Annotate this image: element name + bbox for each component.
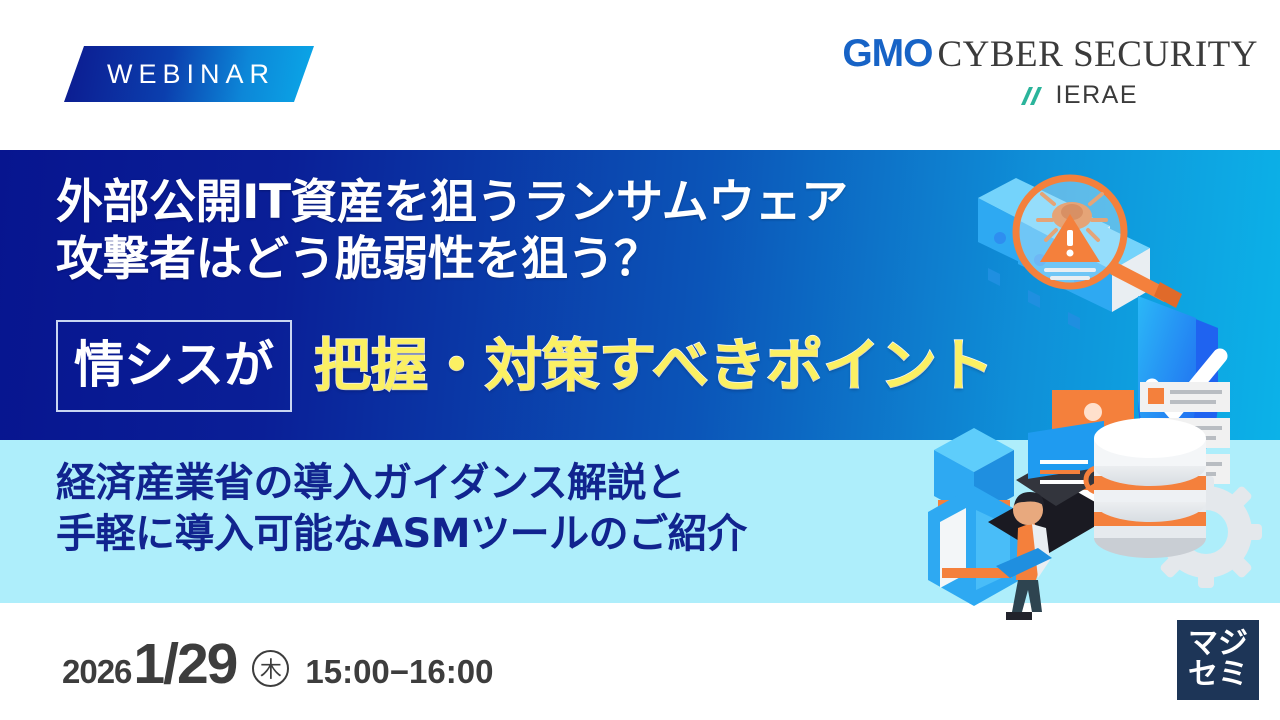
logo-secondary-row: IERAE [842,81,1258,110]
majisemi-logo: マジ セミ [1177,620,1259,700]
event-date: 1/29 [133,631,236,697]
banner-header: WEBINAR GMO CYBER SECURITY IERAE [0,0,1280,150]
majisemi-logo-line-1: マジ [1188,629,1248,660]
title-line-1: 外部公開IT資産を狙うランサムウェア [56,174,956,231]
title-block: 外部公開IT資産を狙うランサムウェア 攻撃者はどう脆弱性を狙う？ [56,174,956,289]
event-time: 15:00−16:00 [305,653,493,691]
event-day-of-week: 木 [252,650,289,687]
subtitle-line-1: 経済産業省の導入ガイダンス解説と [56,458,956,509]
audience-chip-label: 情シスが [74,340,274,390]
headline-row: 情シスが 把握・対策すべきポイント [56,320,994,412]
logo-primary-row: GMO CYBER SECURITY [842,34,1258,73]
ierae-wordmark: IERAE [1055,81,1138,110]
gmo-cyber-security-logo: GMO CYBER SECURITY IERAE [842,34,1258,110]
subtitle-block: 経済産業省の導入ガイダンス解説と 手軽に導入可能なASMツールのご紹介 [56,458,956,560]
cyber-security-wordmark: CYBER SECURITY [937,36,1258,73]
majisemi-logo-line-2: セミ [1188,660,1248,691]
gmo-wordmark: GMO [842,34,932,73]
audience-chip: 情シスが [56,320,292,412]
event-year: 2026 [62,653,131,691]
webinar-badge: WEBINAR [64,46,314,102]
title-line-2: 攻撃者はどう脆弱性を狙う？ [56,231,956,288]
highlight-text: 把握・対策すべきポイント [314,338,994,395]
banner-footer: 2026 1/29 木 15:00−16:00 [0,603,1280,720]
subtitle-band: 経済産業省の導入ガイダンス解説と 手軽に導入可能なASMツールのご紹介 [0,440,1280,603]
subtitle-line-2: 手軽に導入可能なASMツールのご紹介 [56,509,956,560]
webinar-badge-label: WEBINAR [103,59,275,90]
event-datetime: 2026 1/29 木 15:00−16:00 [62,631,493,697]
webinar-banner: WEBINAR GMO CYBER SECURITY IERAE 外部公開IT資… [0,0,1280,720]
main-title-band: 外部公開IT資産を狙うランサムウェア 攻撃者はどう脆弱性を狙う？ 情シスが 把握… [0,150,1280,440]
ierae-slash-icon [1018,85,1048,107]
